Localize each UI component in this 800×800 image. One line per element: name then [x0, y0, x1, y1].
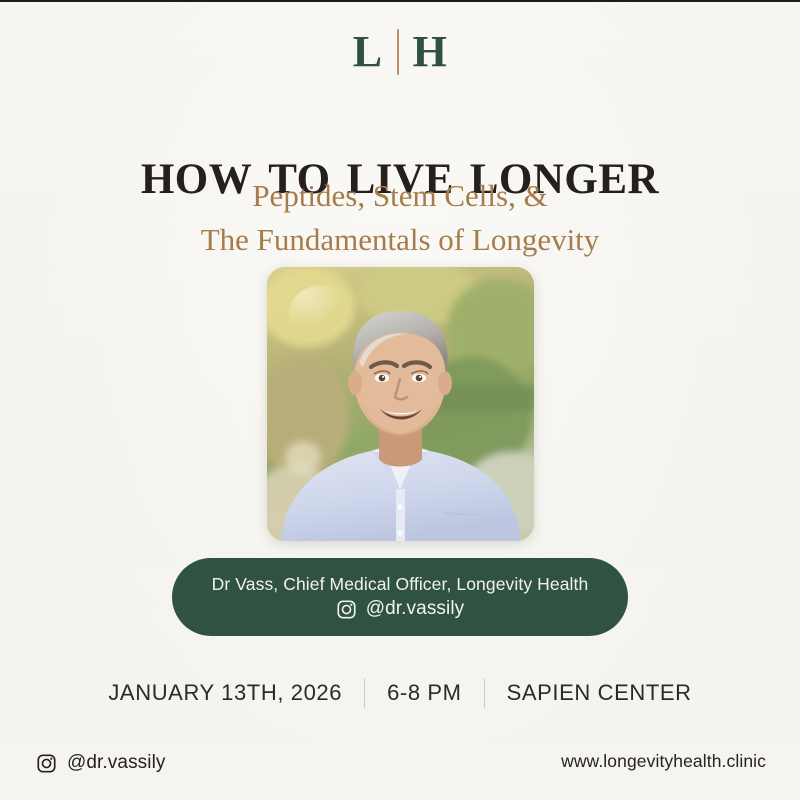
event-time: 6-8 PM — [365, 680, 484, 706]
instagram-icon — [36, 753, 57, 774]
speaker-social[interactable]: @dr.vassily — [336, 598, 465, 620]
event-details: JANUARY 13TH, 2026 6-8 PM SAPIEN CENTER — [0, 678, 800, 708]
speaker-name: Dr Vass, Chief Medical Officer, Longevit… — [212, 574, 589, 595]
footer-social[interactable]: @dr.vassily — [36, 752, 166, 774]
footer-website[interactable]: www.longevityhealth.clinic — [561, 751, 766, 772]
event-poster: L H How to Live longer Peptides, Stem Ce… — [0, 0, 800, 800]
speaker-portrait — [267, 267, 534, 541]
event-venue: SAPIEN CENTER — [485, 680, 714, 706]
vertical-rule-icon — [397, 29, 399, 75]
subtitle: Peptides, Stem Cells, & The Fundamentals… — [0, 174, 800, 262]
logo-letter-left: L — [353, 30, 383, 74]
instagram-icon — [336, 599, 357, 620]
speaker-instagram-handle: @dr.vassily — [366, 598, 465, 620]
brand-logo: L H — [0, 24, 800, 80]
subtitle-line-2: The Fundamentals of Longevity — [0, 218, 800, 262]
subtitle-line-1: Peptides, Stem Cells, & — [0, 174, 800, 218]
event-date: JANUARY 13TH, 2026 — [86, 680, 364, 706]
speaker-banner: Dr Vass, Chief Medical Officer, Longevit… — [172, 558, 628, 636]
portrait-image — [267, 267, 534, 541]
footer-instagram-handle: @dr.vassily — [67, 752, 166, 774]
logo-letter-right: H — [413, 30, 448, 74]
